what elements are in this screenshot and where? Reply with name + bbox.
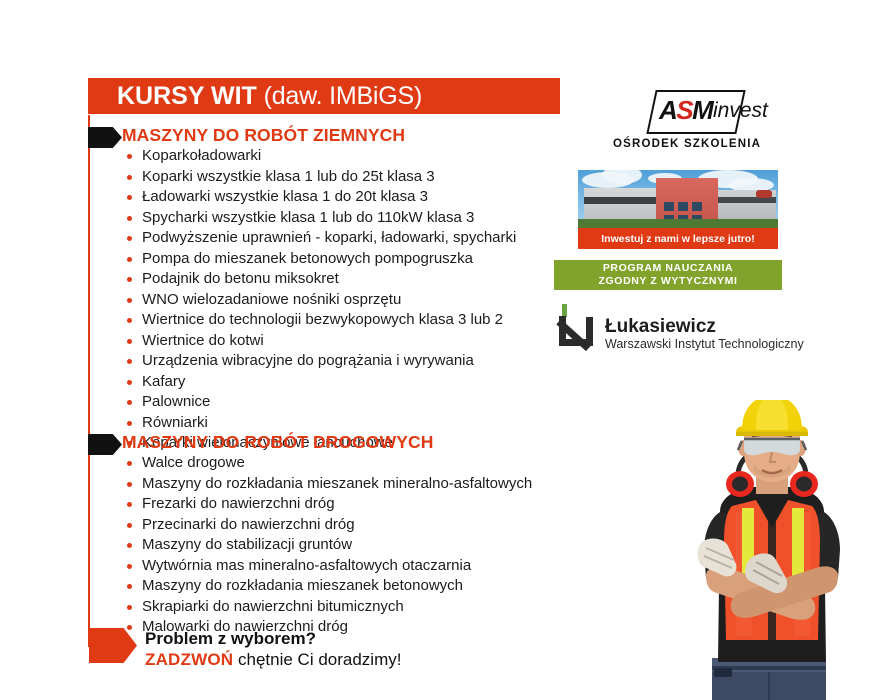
list-item: Urządzenia wibracyjne do pogrążania i wy… [122, 351, 516, 372]
list-item: Frezarki do nawierzchni dróg [122, 494, 532, 515]
asm-invest-word: invest [713, 97, 768, 125]
lukasiewicz-name: Łukasiewicz [605, 316, 716, 338]
cta-line-1: Problem z wyborem? [145, 629, 401, 649]
asm-letter-s: S [676, 95, 692, 125]
list-item: Maszyny do rozkładania mieszanek betonow… [122, 576, 532, 597]
list-item: Skrapiarki do nawierzchni bitumicznych [122, 597, 532, 618]
section-title: MASZYNY DO ROBÓT ZIEMNYCH [122, 125, 405, 146]
flyer-page: KURSY WIT (daw. IMBiGS) MASZYNY DO ROBÓT… [0, 0, 871, 700]
list-item: Palownice [122, 392, 516, 413]
list-item: Walce drogowe [122, 453, 532, 474]
cta-block: Problem z wyborem? ZADZWOŃ chętnie Ci do… [145, 629, 401, 670]
list-item: Przecinarki do nawierzchni dróg [122, 515, 532, 536]
left-accent-rule [88, 115, 90, 647]
photo-caption-bar: Inwestuj z nami w lepsze jutro! [578, 228, 778, 249]
window-shape [664, 202, 674, 211]
lukasiewicz-logo: Łukasiewicz Warszawski Instytut Technolo… [553, 304, 803, 356]
window-shape [692, 202, 702, 211]
header-bar: KURSY WIT (daw. IMBiGS) [88, 78, 560, 114]
list-item: WNO wielozadaniowe nośniki osprzętu [122, 290, 516, 311]
list-item: Maszyny do rozkładania mieszanek mineral… [122, 474, 532, 495]
asm-letter-a: A [659, 95, 676, 125]
arrow-marker-icon [88, 434, 122, 455]
list-item: Koparki wszystkie klasa 1 lub do 25t kla… [122, 167, 516, 188]
list-item: Koparkoładowarki [122, 146, 516, 167]
program-banner-line-2: ZGODNY Z WYTYCZNYMI [599, 275, 738, 288]
asm-logo-mark-icon: ASM invest [603, 90, 755, 130]
construction-worker-photo [676, 400, 871, 700]
list-item: Podwyższenie uprawnień - koparki, ładowa… [122, 228, 516, 249]
section-title: MASZYNY DO ROBÓT DROGOWYCH [122, 432, 433, 453]
window-shape [678, 202, 688, 211]
asm-letters: ASM [659, 94, 712, 126]
page-title-rest: (daw. IMBiGS) [264, 82, 423, 110]
cta-rest: chętnie Ci doradzimy! [233, 650, 401, 669]
page-title: KURSY WIT (daw. IMBiGS) [117, 82, 422, 111]
list-item: Ładowarki wszystkie klasa 1 do 20t klasa… [122, 187, 516, 208]
cta-line-2: ZADZWOŃ chętnie Ci doradzimy! [145, 649, 401, 670]
asm-invest-logo: ASM invest OŚRODEK SZKOLENIA [603, 90, 763, 130]
list-item: Kafary [122, 372, 516, 393]
hedge-strip [578, 219, 778, 228]
list-item: Wiertnice do technologii bezwykopowych k… [122, 310, 516, 331]
list-item: Maszyny do stabilizacji gruntów [122, 535, 532, 556]
list-item: Wytwórnia mas mineralno-asfaltowych otac… [122, 556, 532, 577]
list-item: Spycharki wszystkie klasa 1 lub do 110kW… [122, 208, 516, 229]
lukasiewicz-mark-icon [553, 304, 599, 348]
lukasiewicz-bottom-shape [559, 339, 593, 346]
cta-highlight: ZADZWOŃ [145, 650, 233, 669]
list-roadworks: Walce drogoweMaszyny do rozkładania mies… [122, 453, 532, 638]
building-logo-sign-icon [756, 190, 772, 198]
list-earthworks: KoparkoładowarkiKoparki wszystkie klasa … [122, 146, 516, 454]
program-banner: PROGRAM NAUCZANIA ZGODNY Z WYTYCZNYMI [554, 260, 782, 290]
list-item: Równiarki [122, 413, 516, 434]
program-banner-line-1: PROGRAM NAUCZANIA [603, 262, 733, 275]
list-item: Wiertnice do kotwi [122, 331, 516, 352]
asm-letter-m: M [692, 95, 712, 125]
list-item: Podajnik do betonu miksokret [122, 269, 516, 290]
photo-caption-text: Inwestuj z nami w lepsze jutro! [601, 233, 754, 245]
page-title-strong: KURSY WIT [117, 82, 257, 110]
lukasiewicz-subtitle: Warszawski Instytut Technologiczny [605, 337, 804, 351]
building-photo [578, 170, 778, 228]
arrow-marker-icon [88, 127, 122, 148]
list-item: Pompa do mieszanek betonowych pompogrusz… [122, 249, 516, 270]
asm-subtitle: OŚRODEK SZKOLENIA [613, 138, 761, 150]
